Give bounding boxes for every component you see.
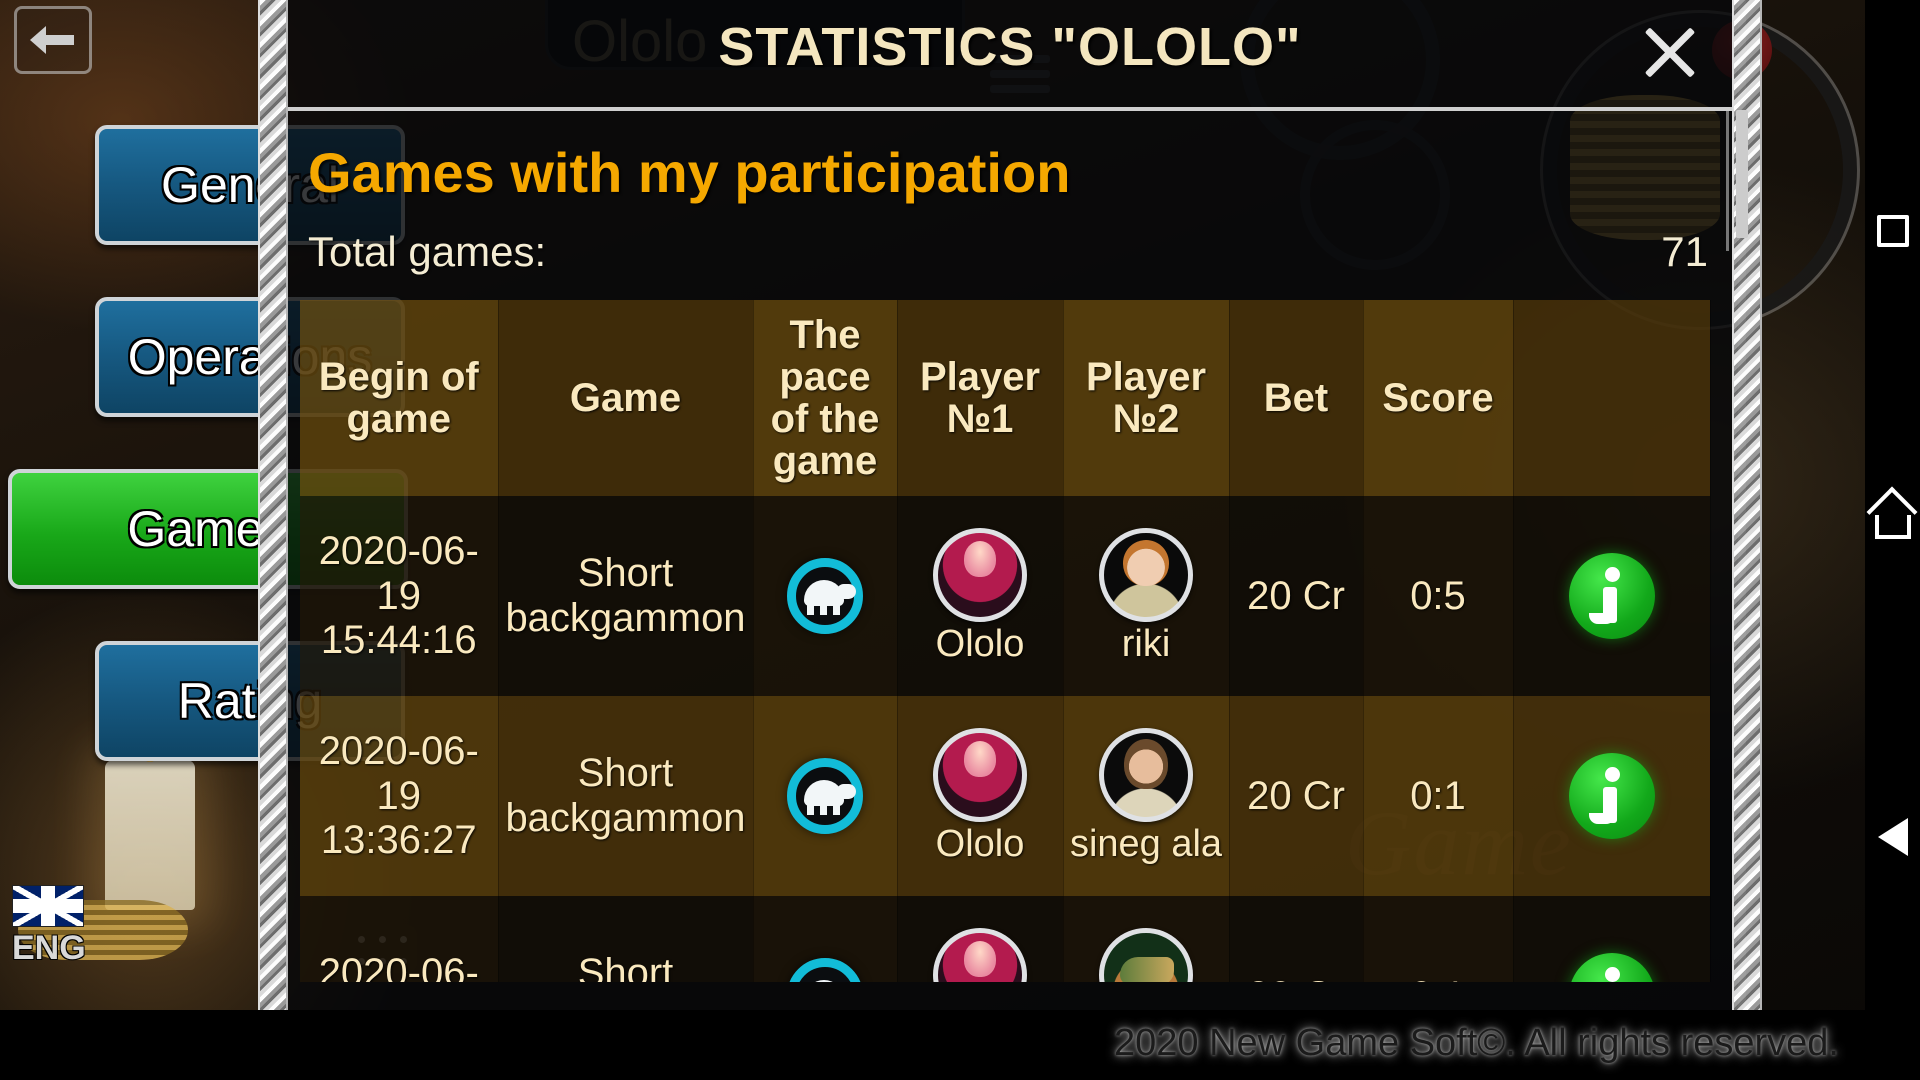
cell-player-2: sineg ala <box>1063 696 1229 896</box>
dialog-title: STATISTICS "OLOLO" <box>288 16 1732 78</box>
uk-flag-icon <box>12 885 84 927</box>
player-name: Ololo <box>936 825 1025 865</box>
section-heading: Games with my participation <box>308 140 1070 205</box>
avatar <box>933 728 1027 822</box>
column-header-score[interactable]: Score <box>1363 300 1513 496</box>
cell-pace <box>753 896 897 982</box>
cell-score: 0:1 <box>1363 896 1513 982</box>
avatar <box>1099 728 1193 822</box>
column-header-actions <box>1513 300 1710 496</box>
android-navigation-bar <box>1865 0 1920 1080</box>
column-header-player-2[interactable]: Player №2 <box>1063 300 1229 496</box>
cell-game: Short backgammon <box>498 496 753 696</box>
language-label: ENG <box>12 929 92 968</box>
player-name: sineg ala <box>1070 825 1222 865</box>
info-icon[interactable] <box>1569 753 1655 839</box>
cell-player-2: riki <box>1063 496 1229 696</box>
column-header-game[interactable]: Game <box>498 300 753 496</box>
cell-info <box>1513 696 1710 896</box>
cell-pace <box>753 496 897 696</box>
cell-game: Short backgammon <box>498 896 753 982</box>
cell-begin-of-game: 2020-06-17 <box>300 896 498 982</box>
column-header-bet[interactable]: Bet <box>1229 300 1363 496</box>
column-header-player-1[interactable]: Player №1 <box>897 300 1063 496</box>
cell-bet: 20 Cr <box>1229 696 1363 896</box>
cell-info <box>1513 896 1710 982</box>
cell-score: 0:1 <box>1363 696 1513 896</box>
cell-begin-of-game: 2020-06-19 15:44:16 <box>300 496 498 696</box>
title-divider <box>288 107 1732 111</box>
statistics-table: Begin of game Game The pace of the game … <box>300 300 1711 982</box>
player-name: riki <box>1122 625 1171 665</box>
candle-decoration <box>105 760 195 910</box>
language-selector[interactable]: ENG <box>12 885 92 968</box>
info-icon[interactable] <box>1569 553 1655 639</box>
column-header-begin-of-game[interactable]: Begin of game <box>300 300 498 496</box>
table-header-row: Begin of game Game The pace of the game … <box>300 300 1710 496</box>
table-row[interactable]: 2020-06-19 15:44:16 Short backgammon <box>300 496 1710 696</box>
turtle-icon <box>787 558 863 634</box>
panel-left-rail <box>258 0 288 1010</box>
cell-begin-of-game: 2020-06-19 13:36:27 <box>300 696 498 896</box>
statistics-table-wrapper[interactable]: Begin of game Game The pace of the game … <box>300 300 1732 982</box>
cell-score: 0:5 <box>1363 496 1513 696</box>
back-button[interactable] <box>14 6 92 74</box>
back-arrow-icon <box>30 23 76 57</box>
info-icon[interactable] <box>1569 953 1655 982</box>
player-name: Ololo <box>936 625 1025 665</box>
cell-info <box>1513 496 1710 696</box>
cell-bet: 20 Cr <box>1229 496 1363 696</box>
turtle-icon <box>787 758 863 834</box>
cell-player-1: Ololo <box>897 896 1063 982</box>
dialog-content: STATISTICS "OLOLO" Games with my partici… <box>288 0 1732 1010</box>
statistics-dialog: STATISTICS "OLOLO" Games with my partici… <box>258 0 1762 1010</box>
home-icon[interactable] <box>1865 515 1920 539</box>
cell-player-2: Stepd <box>1063 896 1229 982</box>
cell-pace <box>753 696 897 896</box>
copyright-text: 2020 New Game Soft©. All rights reserved… <box>1114 1022 1839 1065</box>
total-games-value: 71 <box>1661 228 1708 276</box>
avatar <box>1099 928 1193 982</box>
recent-apps-icon[interactable] <box>1865 215 1920 247</box>
cell-game: Short backgammon <box>498 696 753 896</box>
avatar <box>1099 528 1193 622</box>
screen-root: Ololo 1 Game General Operations Games Ra… <box>0 0 1920 1080</box>
table-row[interactable]: 2020-06-19 13:36:27 Short backgammon <box>300 696 1710 896</box>
back-nav-icon[interactable] <box>1865 818 1920 856</box>
column-header-pace-of-game[interactable]: The pace of the game <box>753 300 897 496</box>
total-games-row: Total games: 71 <box>308 228 1708 276</box>
cell-player-1: Ololo <box>897 696 1063 896</box>
turtle-icon <box>787 958 863 982</box>
avatar <box>933 528 1027 622</box>
panel-vertical-divider <box>1726 111 1729 251</box>
dialog-scrollbar-thumb[interactable] <box>1736 110 1748 238</box>
avatar <box>933 928 1027 982</box>
table-row[interactable]: 2020-06-17 Short backgammon Ololo <box>300 896 1710 982</box>
close-icon[interactable] <box>1634 16 1706 88</box>
total-games-label: Total games: <box>308 228 546 276</box>
cell-bet: 20 Cr <box>1229 896 1363 982</box>
footer: 2020 New Game Soft©. All rights reserved… <box>0 1010 1865 1080</box>
cell-player-1: Ololo <box>897 496 1063 696</box>
